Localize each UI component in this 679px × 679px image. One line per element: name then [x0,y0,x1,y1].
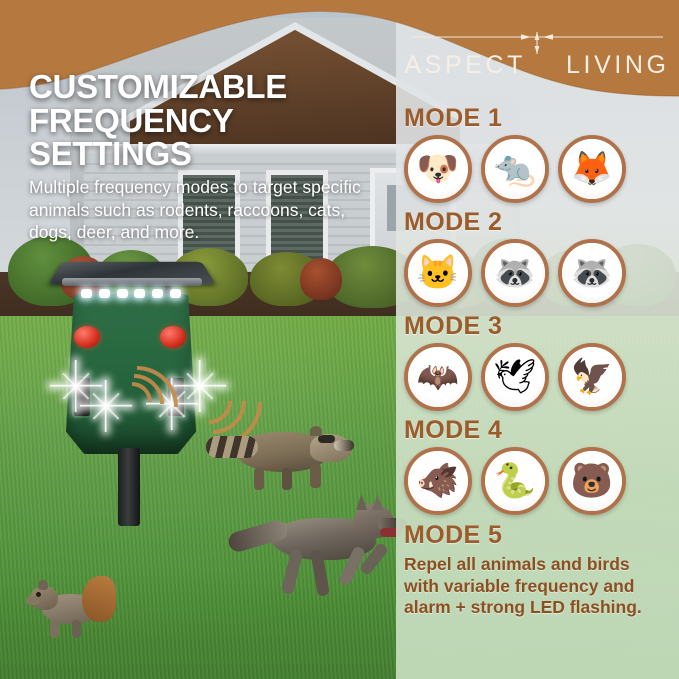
raccoon-icon: 🦝 [562,243,622,303]
animal-thumb-bear[interactable]: 🐻 [558,447,626,515]
mode-animal-row: 🦇 🕊 🦅 [404,343,679,411]
mode-label: MODE 2 [404,208,679,237]
mode5-description: Repel all animals and birds with variabl… [404,554,679,619]
mode-block-2: MODE 2 🐱 🦝 🦝 [404,208,679,307]
led-light-icon [78,286,184,300]
mode-block-4: MODE 4 🐗 🐍 🐻 [404,416,679,515]
fox-icon: 🦊 [562,139,622,199]
headline-line-1: CUSTOMIZABLE [29,70,379,104]
ir-sensor-lens [74,326,100,348]
headline-line-3: SETTINGS [29,137,379,171]
animal-thumb-eagle[interactable]: 🦅 [558,343,626,411]
page-title: CUSTOMIZABLE FREQUENCY SETTINGS [29,70,379,171]
animal-thumb-cat[interactable]: 🐱 [404,239,472,307]
brand-logo: ASPECT LIVING [409,26,665,78]
ground-stake-icon [118,448,140,526]
headline-line-2: FREQUENCY [29,104,379,138]
animal-thumb-rat[interactable]: 🐀 [481,135,549,203]
cat-icon: 🐱 [408,243,468,303]
speaker-icon [72,376,92,418]
marketing-image: ASPECT LIVING CUSTOMIZABLE FREQUENCY SET… [0,0,679,679]
shrub-accent [300,258,342,300]
compass-cross-icon [409,32,665,54]
mode-animal-row: 🐶 🐀 🦊 [404,135,679,203]
snake-icon: 🐍 [485,451,545,511]
mode5-line-3: alarm + strong LED flashing. [404,597,679,619]
boar-icon: 🐗 [408,451,468,511]
bear-icon: 🐻 [562,451,622,511]
wolf-icon [228,492,408,604]
animal-thumb-boar[interactable]: 🐗 [404,447,472,515]
eagle-icon: 🦅 [562,347,622,407]
bat-icon: 🦇 [408,347,468,407]
animal-thumb-snake[interactable]: 🐍 [481,447,549,515]
skunk-icon: 🦝 [485,243,545,303]
animal-thumb-fox[interactable]: 🦊 [558,135,626,203]
mode5-line-1: Repel all animals and birds [404,554,679,576]
subheading-copy: Multiple frequency modes to target speci… [29,176,367,244]
raccoon-icon [206,418,354,492]
squirrel-icon [16,572,120,642]
mode-label: MODE 3 [404,312,679,341]
animal-thumb-dog[interactable]: 🐶 [404,135,472,203]
ir-sensor-lens [160,326,186,348]
mode-block-3: MODE 3 🦇 🕊 🦅 [404,312,679,411]
solar-panel-edge [62,278,202,286]
mode-animal-row: 🐗 🐍 🐻 [404,447,679,515]
brand-name-right: LIVING [566,53,670,78]
mode-block-5: MODE 5 Repel all animals and birds with … [404,521,679,619]
mode-animal-row: 🐱 🦝 🦝 [404,239,679,307]
mode-label: MODE 4 [404,416,679,445]
mode-label: MODE 1 [404,104,679,133]
animal-thumb-vulture[interactable]: 🕊 [481,343,549,411]
brand-name-left: ASPECT [404,53,526,78]
vulture-icon: 🕊 [485,347,545,407]
rat-icon: 🐀 [485,139,545,199]
animal-thumb-skunk[interactable]: 🦝 [481,239,549,307]
animal-thumb-raccoon[interactable]: 🦝 [558,239,626,307]
dog-icon: 🐶 [408,139,468,199]
mode-label: MODE 5 [404,521,679,550]
mode-list: MODE 1 🐶 🐀 🦊 MODE 2 🐱 🦝 🦝 MODE 3 🦇 🕊 🦅 [404,104,679,619]
animal-thumb-bat[interactable]: 🦇 [404,343,472,411]
mode-block-1: MODE 1 🐶 🐀 🦊 [404,104,679,203]
mode5-line-2: with variable frequency and [404,576,679,598]
